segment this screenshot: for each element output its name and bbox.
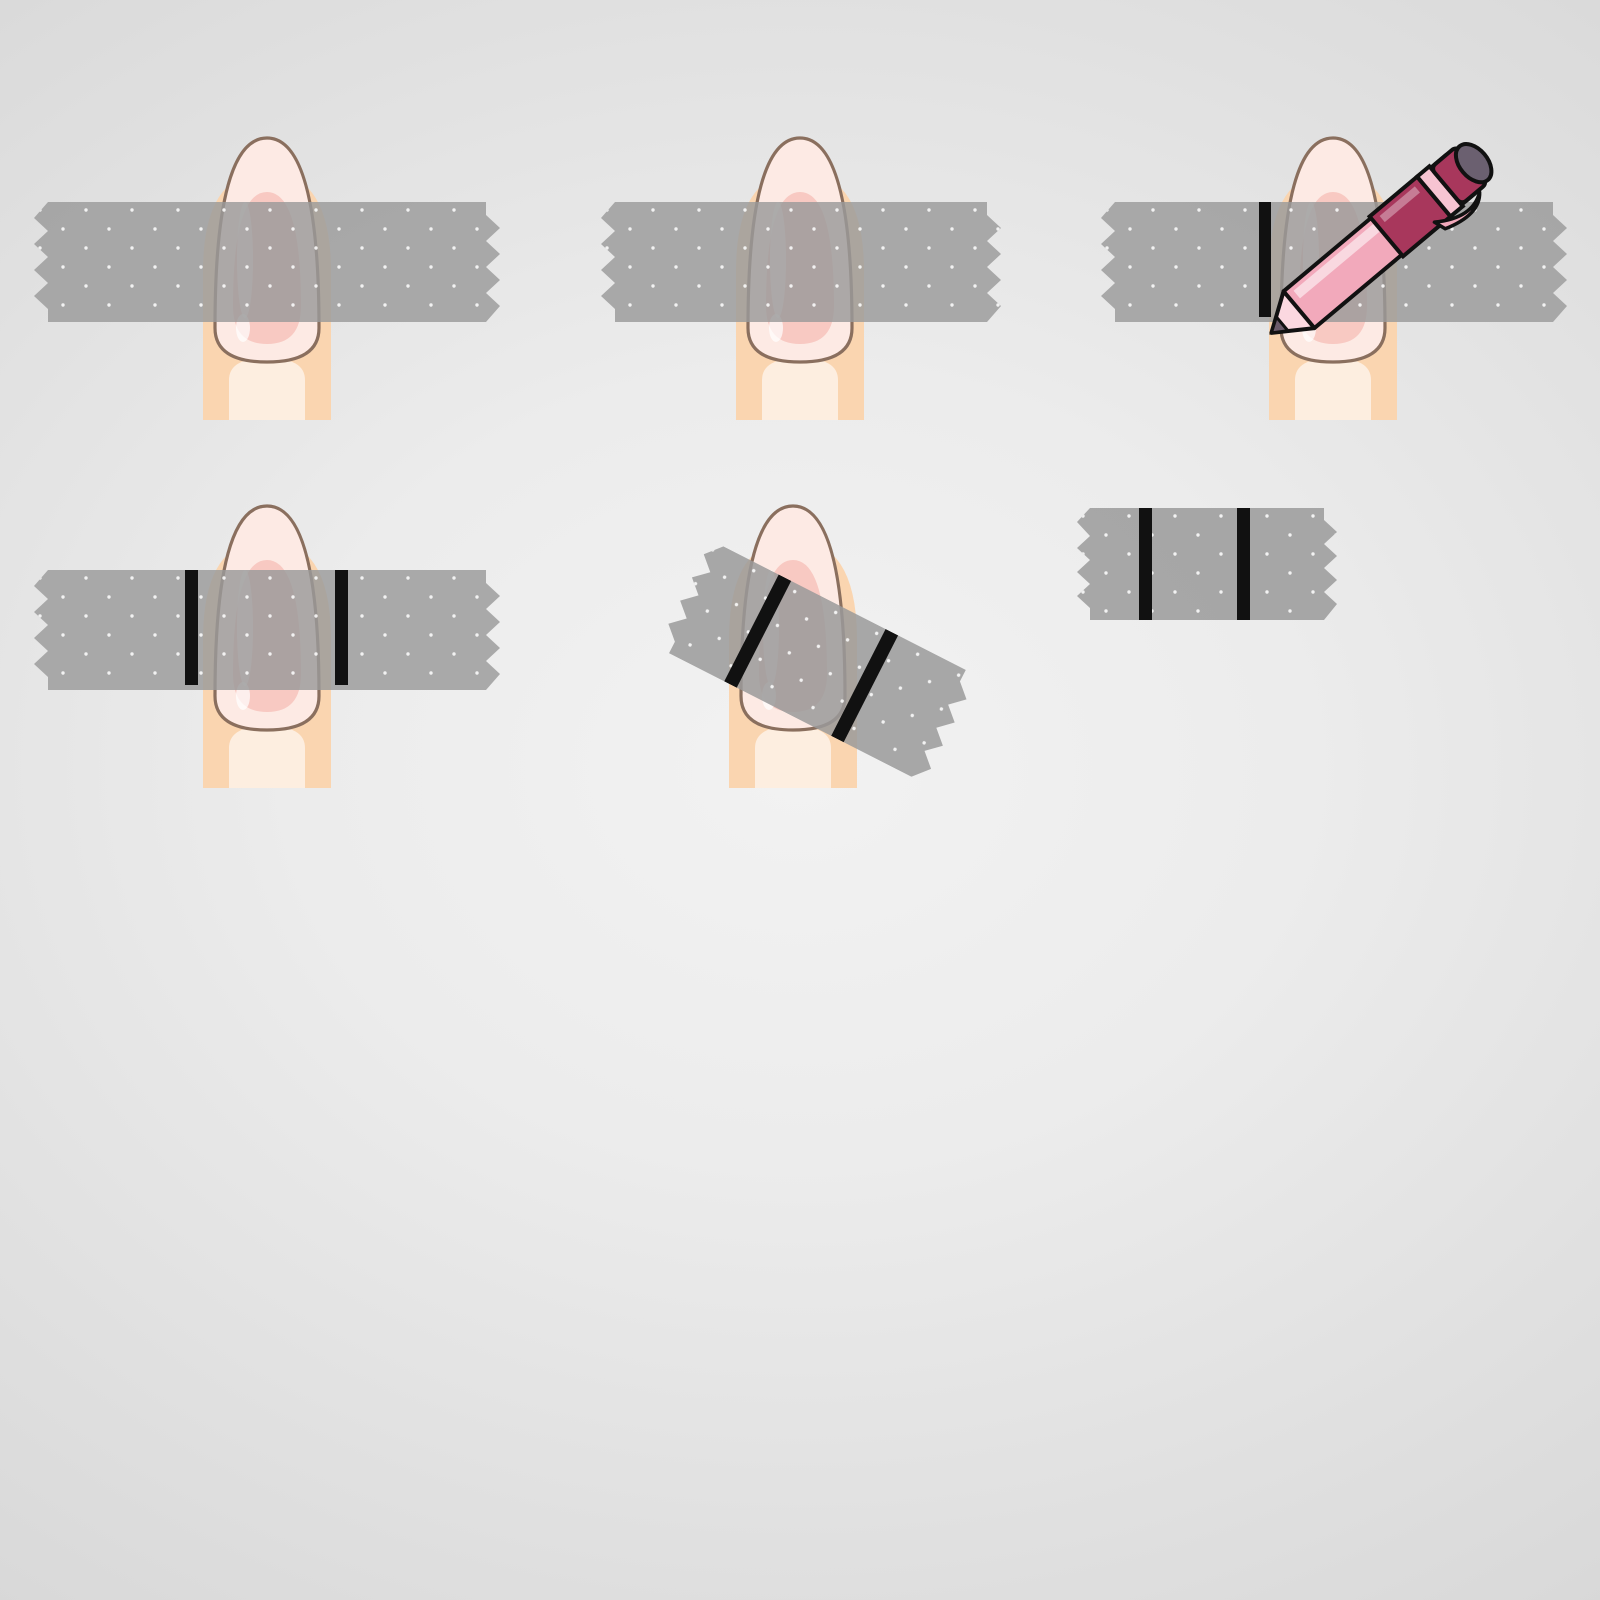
steps-row-2 — [0, 488, 1600, 794]
infographic-page — [0, 0, 1600, 1600]
step-4 — [0, 488, 533, 794]
step-6-illustration — [1067, 488, 1600, 788]
tape-strip — [34, 202, 500, 322]
step-3 — [1067, 120, 1600, 426]
step-5 — [533, 488, 1066, 794]
step-4-illustration — [0, 488, 533, 788]
step-3-illustration — [1067, 120, 1600, 420]
tape-strip-creased — [601, 202, 1001, 322]
pen-icon — [1242, 130, 1532, 360]
pen-mark-left — [1139, 508, 1152, 620]
step-2-illustration — [533, 120, 1066, 420]
pen-mark-right — [1237, 508, 1250, 620]
tape-strip — [34, 570, 500, 690]
pen-mark-left — [185, 570, 198, 685]
step-1 — [0, 120, 533, 426]
size-chart-table — [170, 903, 1440, 920]
steps-section — [0, 120, 1600, 794]
step-6 — [1067, 488, 1600, 794]
step-1-illustration — [0, 120, 533, 420]
steps-row-1 — [0, 120, 1600, 426]
tape-strip-flat — [1077, 508, 1337, 620]
step-2 — [533, 120, 1066, 426]
pen-mark-right — [335, 570, 348, 685]
ruler — [1137, 606, 1507, 741]
step-5-illustration — [533, 488, 1066, 788]
